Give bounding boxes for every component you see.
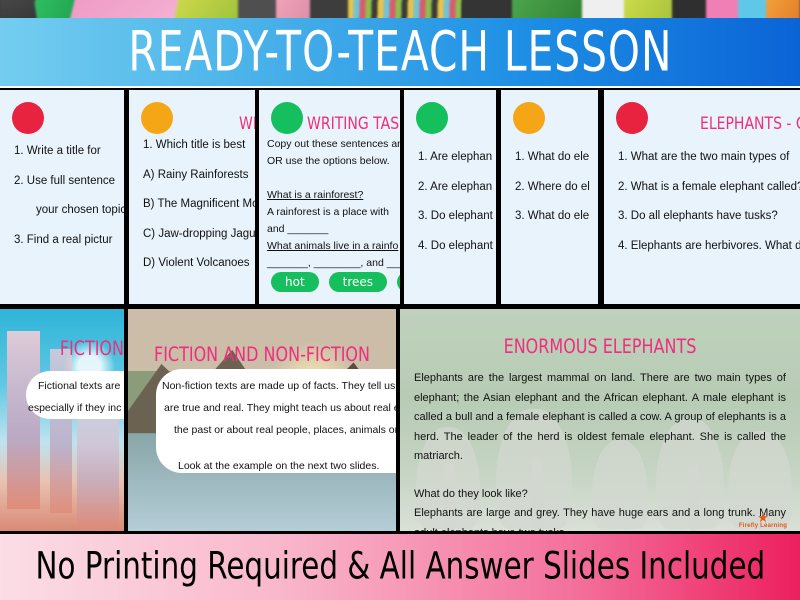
list-item: A) Rainy Rainforests bbox=[143, 170, 255, 182]
brand-logo: ★ Firefly Learning bbox=[734, 512, 792, 529]
worksheet-card-5[interactable]: 1. What do ele 2. Where do el 3. What do… bbox=[501, 90, 598, 304]
paragraph-line: _______, ________, and _______ bbox=[267, 255, 400, 272]
list-item: 3. Find a real pictur bbox=[14, 235, 124, 247]
paragraph-line: What is a rainforest? bbox=[267, 187, 400, 204]
card-title: ELEPHANTS - CO bbox=[700, 114, 800, 133]
slide-text-line: Fictional texts are bbox=[38, 375, 120, 397]
firefly-icon: ★ bbox=[734, 512, 792, 523]
list-item: 3. What do ele bbox=[515, 211, 598, 223]
list-item: 2. Are elephan bbox=[418, 182, 496, 194]
list-item: 1. What do ele bbox=[515, 152, 598, 164]
slide-text-line: Look at the example on the next two slid… bbox=[178, 455, 379, 477]
header-banner: READY-TO-TEACH LESSON bbox=[0, 18, 800, 86]
poster-page: READY-TO-TEACH LESSON 1. Write a title f… bbox=[0, 0, 800, 600]
word-bank-pill[interactable]: trees bbox=[329, 272, 387, 292]
paragraph-line: and _______ bbox=[267, 221, 400, 238]
list-item: B) The Magnificent Moo bbox=[143, 199, 255, 211]
elephants-slide[interactable]: ENORMOUS ELEPHANTS Elephants are the lar… bbox=[400, 309, 800, 531]
list-item: 2. What is a female elephant called? bbox=[618, 182, 800, 194]
list-item: 4. Elephants are herbivores. What d bbox=[618, 241, 800, 253]
lesson-slide-row: FICTION Fictional texts are especially i… bbox=[0, 306, 800, 534]
list-item: 1. Are elephan bbox=[418, 152, 496, 164]
list-item: 3. Do all elephants have tusks? bbox=[618, 211, 800, 223]
list-item: 4. Do elephant bbox=[418, 241, 496, 253]
paragraph-line: A rainforest is a place with bbox=[267, 204, 400, 221]
logo-label: Firefly Learning bbox=[734, 523, 792, 529]
card-title: WRITING TASK bbox=[239, 114, 255, 133]
slide-text-line: are true and real. They might teach us a… bbox=[164, 397, 396, 419]
slide-text-line: the past or about real people, places, a… bbox=[174, 419, 396, 441]
card-marker-dot-green bbox=[271, 102, 303, 134]
worksheet-card-row: 1. Write a title for 2. Use full sentenc… bbox=[0, 88, 800, 306]
card-title: WRITING TASK bbox=[307, 114, 400, 133]
card-marker-dot-green bbox=[416, 102, 448, 134]
worksheet-card-1[interactable]: 1. Write a title for 2. Use full sentenc… bbox=[0, 90, 124, 304]
list-item: 1. Write a title for bbox=[14, 146, 124, 158]
slide-text-line: Non-fiction texts are made up of facts. … bbox=[162, 375, 396, 397]
slide-paragraph: Elephants are large and grey. They have … bbox=[414, 504, 786, 531]
paragraph-line: Copy out these sentences an bbox=[267, 136, 400, 153]
list-item: C) Jaw-dropping Jaguar bbox=[143, 229, 255, 241]
list-item: 1. Which title is best bbox=[143, 140, 255, 152]
word-bank-pill[interactable]: jag bbox=[397, 272, 400, 292]
worksheet-card-4[interactable]: 1. Are elephan 2. Are elephan 3. Do elep… bbox=[404, 90, 496, 304]
fiction-nonfiction-slide[interactable]: FICTION AND NON-FICTION Non-fiction text… bbox=[128, 309, 396, 531]
page-title: READY-TO-TEACH LESSON bbox=[128, 24, 672, 79]
card-marker-dot-orange bbox=[141, 102, 173, 134]
worksheet-card-3[interactable]: WRITING TASK Copy out these sentences an… bbox=[259, 90, 400, 304]
footer-text: No Printing Required & All Answer Slides… bbox=[35, 548, 765, 586]
list-item: 1. What are the two main types of bbox=[618, 152, 800, 164]
card-marker-dot-red bbox=[616, 102, 648, 134]
paragraph-line: OR use the options below. bbox=[267, 153, 400, 170]
slide-title: FICTION AND NON-FICTION bbox=[128, 343, 396, 366]
fiction-slide[interactable]: FICTION Fictional texts are especially i… bbox=[0, 309, 124, 531]
slide-paragraph: Elephants are the largest mammal on land… bbox=[414, 369, 786, 467]
worksheet-card-2[interactable]: WRITING TASK 1. Which title is best A) R… bbox=[129, 90, 255, 304]
slide-question: What do they look like? bbox=[414, 485, 786, 505]
slide-title: FICTION bbox=[0, 337, 124, 360]
card-marker-dot-orange bbox=[513, 102, 545, 134]
footer-banner: No Printing Required & All Answer Slides… bbox=[0, 534, 800, 600]
paragraph-line: What animals live in a rainfo bbox=[267, 238, 400, 255]
list-item: 2. Use full sentence bbox=[14, 176, 124, 188]
slide-text-line: especially if they inc bbox=[28, 397, 121, 419]
list-item: 3. Do elephant bbox=[418, 211, 496, 223]
word-bank-pill[interactable]: hot bbox=[271, 272, 319, 292]
list-item: your chosen topic bbox=[14, 205, 124, 217]
worksheet-card-6[interactable]: ELEPHANTS - CO 1. What are the two main … bbox=[604, 90, 800, 304]
list-item: D) Violent Volcanoes bbox=[143, 258, 255, 270]
card-marker-dot-red bbox=[12, 102, 44, 134]
slide-title: ENORMOUS ELEPHANTS bbox=[400, 335, 800, 358]
list-item: 2. Where do el bbox=[515, 182, 598, 194]
